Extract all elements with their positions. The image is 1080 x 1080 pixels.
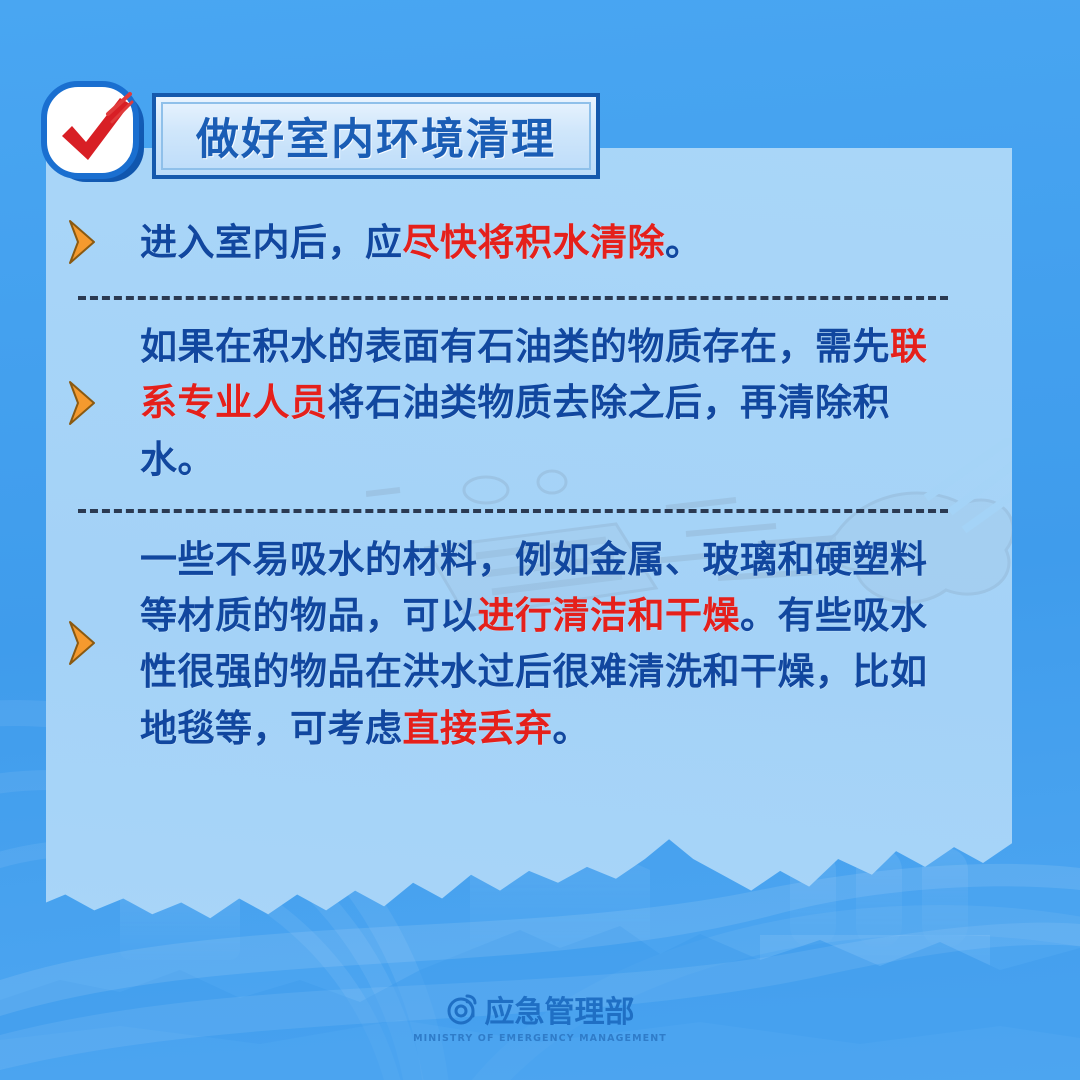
- body-text: 如果在积水的表面有石油类的物质存在，需先: [140, 324, 890, 368]
- highlighted-text: 直接丢弃: [403, 706, 553, 750]
- list-item-text: 一些不易吸水的材料，例如金属、玻璃和硬塑料等材质的物品，可以进行清洁和干燥。有些…: [140, 531, 948, 756]
- dashed-divider: [78, 296, 948, 300]
- highlighted-text: 进行清洁和干燥: [478, 593, 741, 637]
- highlighted-text: 尽快将积水清除: [403, 220, 666, 264]
- title-banner: 做好室内环境清理: [152, 93, 600, 179]
- list-item-text: 进入室内后，应尽快将积水清除。: [140, 214, 703, 270]
- at-symbol-icon: [446, 992, 480, 1026]
- logo-english-text: MINISTRY OF EMERGENCY MANAGEMENT: [413, 1033, 667, 1044]
- dashed-divider: [78, 509, 948, 513]
- ministry-logo: 应急管理部 MINISTRY OF EMERGENCY MANAGEMENT: [0, 987, 1080, 1044]
- background-arc: [420, 905, 1080, 1080]
- orange-chevron-icon: [64, 620, 104, 666]
- body-text: 进入室内后，应: [140, 220, 403, 264]
- red-check-mark-icon: [38, 80, 150, 188]
- list-item: 如果在积水的表面有石油类的物质存在，需先联系专业人员将石油类物质去除之后，再清除…: [0, 318, 966, 487]
- body-text: 。: [553, 706, 591, 750]
- orange-chevron-icon: [64, 219, 104, 265]
- page-title: 做好室内环境清理: [156, 97, 596, 175]
- body-text: 。: [665, 220, 703, 264]
- orange-chevron-icon: [64, 380, 104, 426]
- poster-canvas: 做好室内环境清理 进入室内后，应尽快将积水清除。 如果在积水的表面有石油类的物质…: [0, 0, 1080, 1080]
- logo-row: 应急管理部: [446, 987, 635, 1031]
- list-item: 一些不易吸水的材料，例如金属、玻璃和硬塑料等材质的物品，可以进行清洁和干燥。有些…: [0, 531, 966, 756]
- list-item-text: 如果在积水的表面有石油类的物质存在，需先联系专业人员将石油类物质去除之后，再清除…: [140, 318, 948, 487]
- logo-chinese-text: 应急管理部: [485, 987, 635, 1031]
- list-item: 进入室内后，应尽快将积水清除。: [0, 214, 966, 270]
